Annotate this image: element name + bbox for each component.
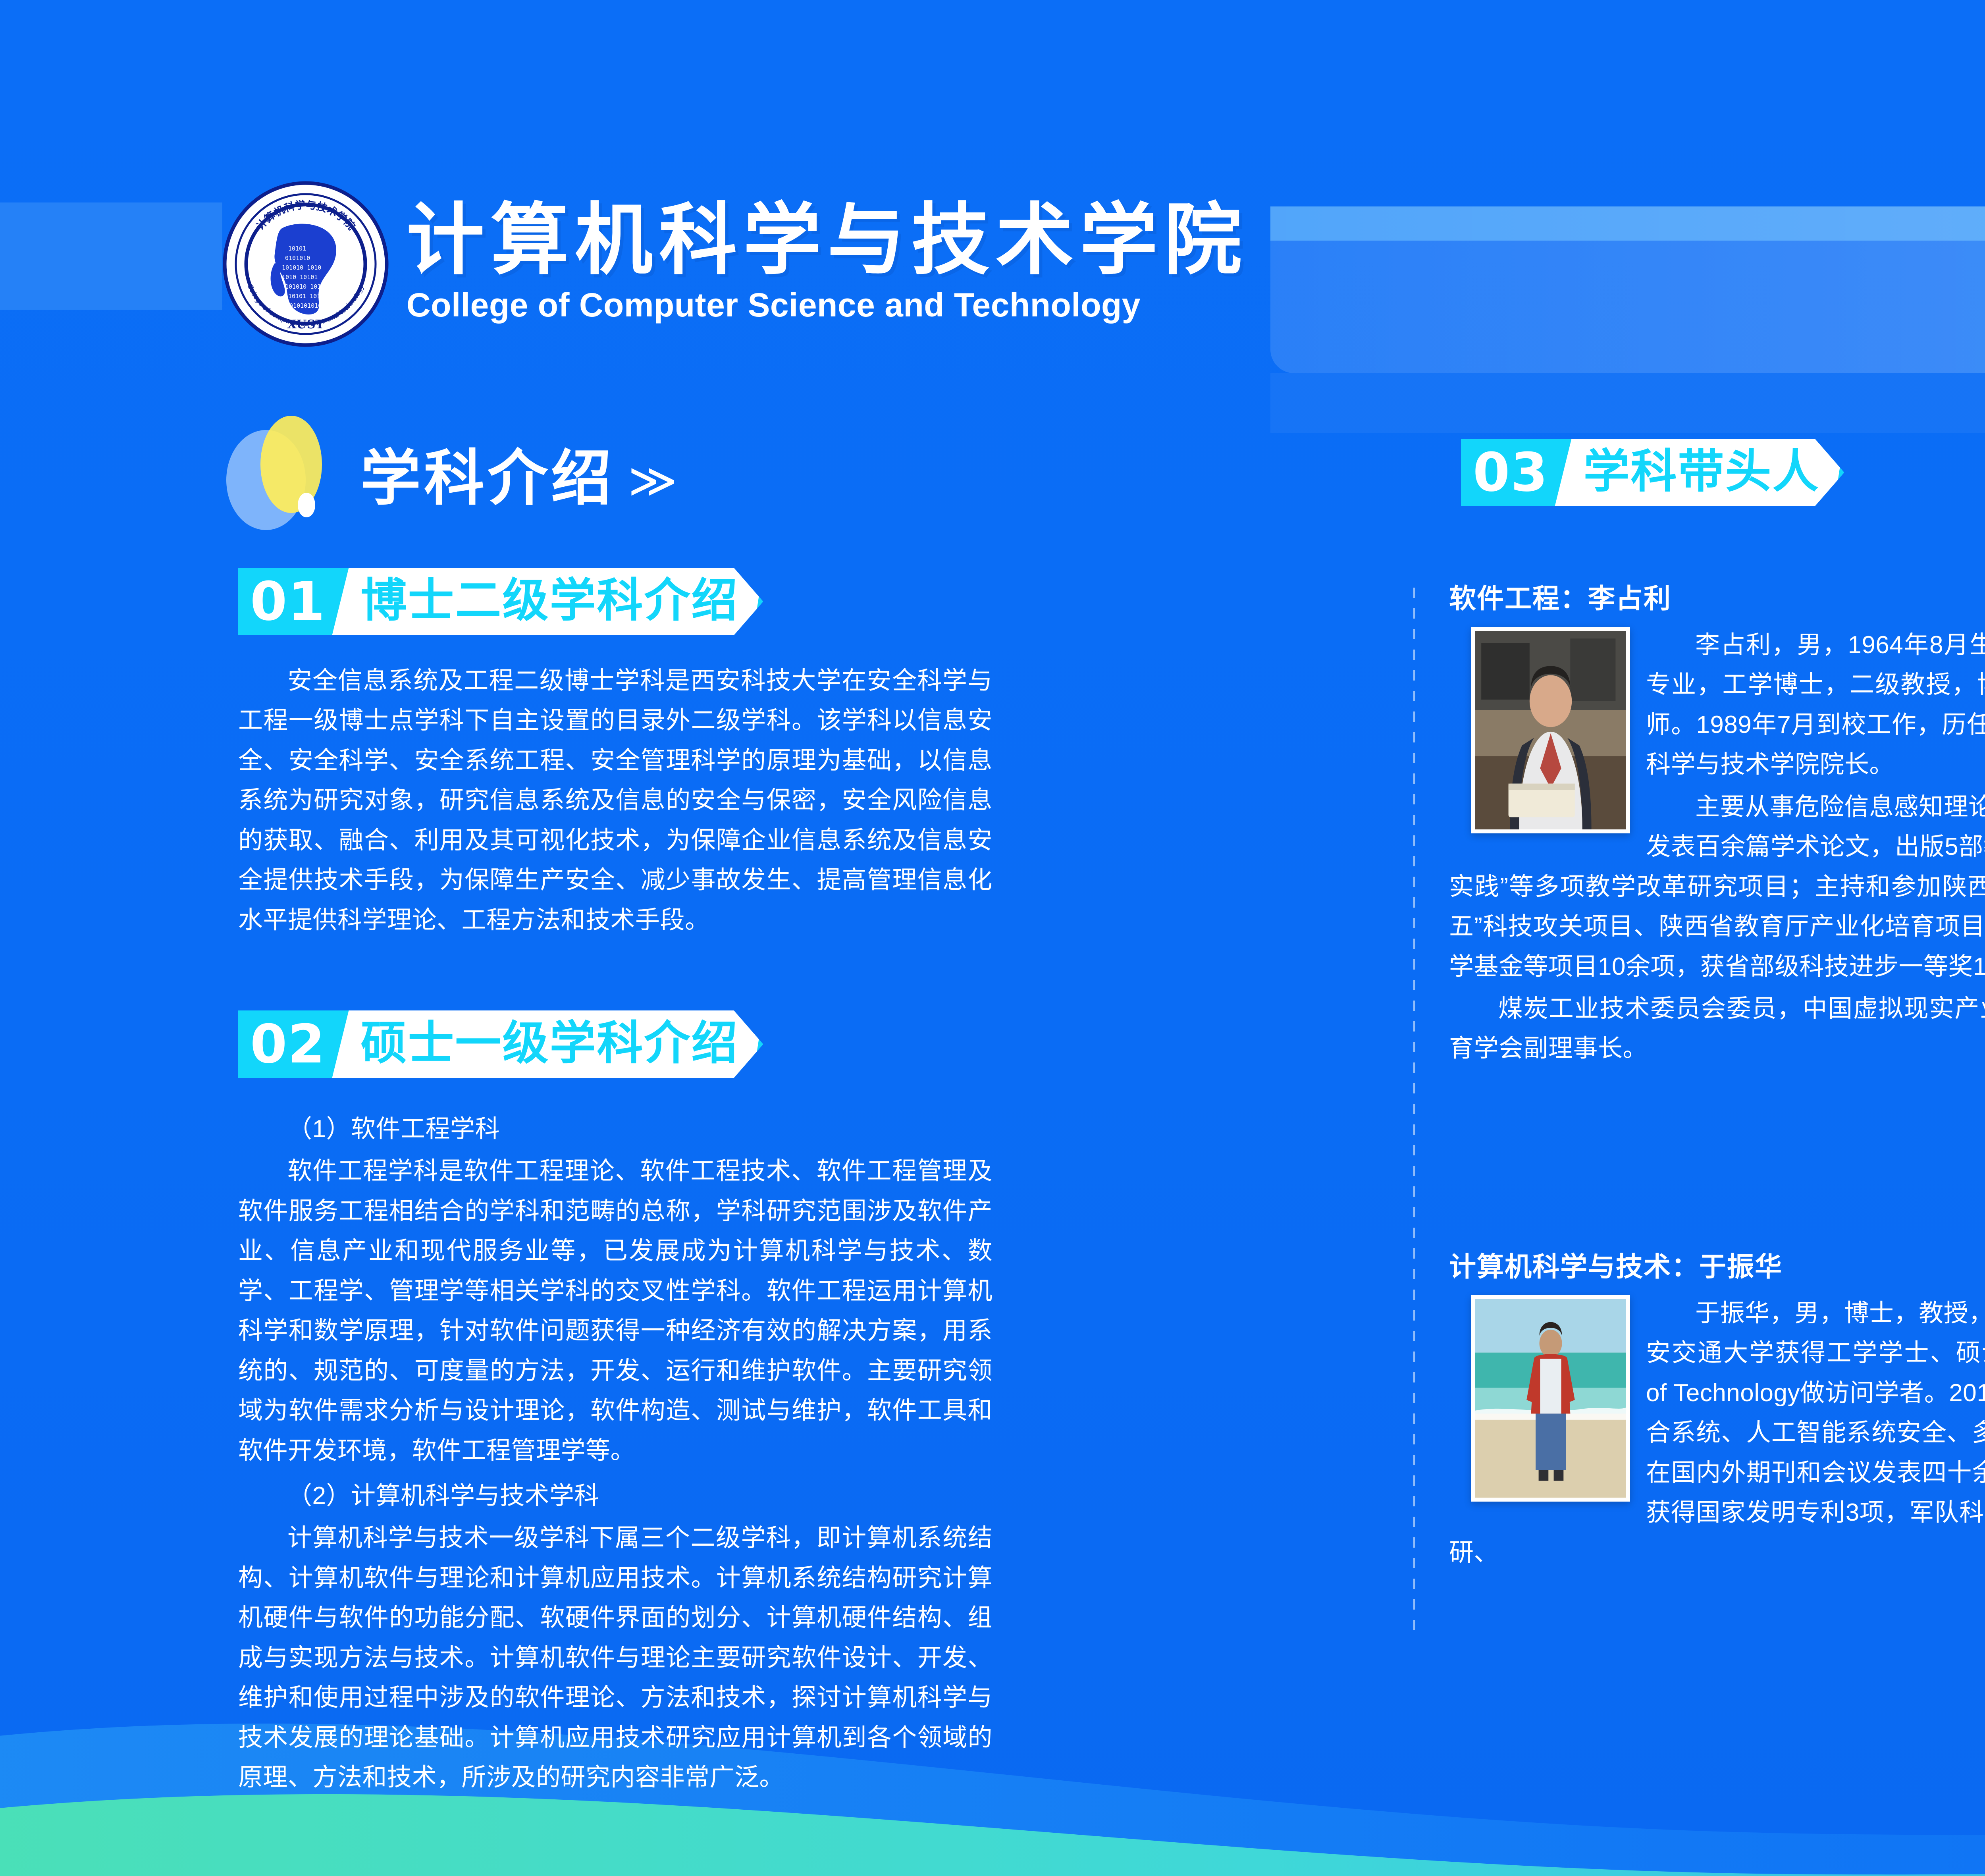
- poster-canvas: 10101 0101010 101010 1010 1010 10101 101…: [0, 0, 1985, 1876]
- svg-text:0101010: 0101010: [285, 255, 310, 262]
- paragraph: 计算机科学与技术一级学科下属三个二级学科，即计算机系统结构、计算机软件与理论和计…: [238, 1518, 992, 1797]
- subsection-heading: （2）计算机科学与技术学科: [238, 1476, 992, 1516]
- college-title-chinese: 计算机科学与技术学院: [407, 201, 1248, 280]
- white-dot-icon: [298, 493, 315, 517]
- section-badge-plate: 学科带头人: [1555, 439, 1844, 506]
- leader-portrait-photo: [1471, 1295, 1630, 1502]
- leader-profile-2: 计算机科学与技术：于振华: [1449, 1245, 1985, 1575]
- subsection-heading: （1）软件工程学科: [238, 1109, 992, 1149]
- svg-text:101010 101010: 101010 101010: [285, 283, 331, 290]
- university-crest-logo: 10101 0101010 101010 1010 1010 10101 101…: [222, 181, 389, 347]
- college-title-english: College of Computer Science and Technolo…: [407, 286, 1248, 324]
- leader-name-heading: 计算机科学与技术：于振华: [1449, 1245, 1985, 1284]
- svg-text:10101: 10101: [288, 245, 306, 252]
- double-chevron-right-icon: ≫: [628, 457, 677, 504]
- section-01-body: 安全信息系统及工程二级博士学科是西安科技大学在安全科学与工程一级博士点学科下自主…: [238, 661, 992, 943]
- section-number: 02: [250, 1010, 328, 1078]
- section-badge-plate: 硕士一级学科介绍: [332, 1010, 763, 1078]
- title-dot-decoration: [226, 419, 357, 538]
- section-badge-plate: 博士二级学科介绍: [332, 568, 763, 635]
- paragraph: 煤炭工业技术委员会委员，中国虚拟现实产业联盟常务理事陕西省计算机学会常务理事，陕…: [1449, 989, 1985, 1069]
- leader-profile-1: 软件工程：李占利: [1449, 576, 1985, 1071]
- page-title-label: 学科介绍: [360, 448, 615, 509]
- leader-bio: 李占利，男，1964年8月生，陕西省周至人。1997年12月毕业于西安交通大学机…: [1449, 625, 1985, 1071]
- page-title: 学科介绍 ≫: [226, 413, 677, 544]
- section-title: 博士二级学科介绍: [360, 577, 738, 623]
- section-title: 学科带头人: [1583, 448, 1819, 494]
- header-ribbon-lower: [1270, 373, 1985, 433]
- masthead: 10101 0101010 101010 1010 1010 10101 101…: [222, 181, 1248, 347]
- leader-portrait-photo: [1471, 627, 1630, 833]
- column-divider: [1413, 588, 1415, 1636]
- leader-name-heading: 软件工程：李占利: [1449, 576, 1985, 616]
- svg-text:101010 1010: 101010 1010: [282, 264, 321, 271]
- paragraph: 安全信息系统及工程二级博士学科是西安科技大学在安全科学与工程一级博士点学科下自主…: [238, 661, 992, 940]
- section-badge-01: 01 博士二级学科介绍: [238, 568, 763, 635]
- left-accent-band: [0, 202, 222, 310]
- section-badge-03: 03 学科带头人: [1461, 439, 1844, 506]
- leader-bio: 于振华，男，博士，教授，计算机科学与技术学科带头人。分别在西安电子科技大学和西安…: [1449, 1294, 1985, 1575]
- section-badge-02: 02 硕士一级学科介绍: [238, 1010, 763, 1078]
- section-number: 03: [1473, 439, 1551, 506]
- section-number: 01: [250, 568, 328, 635]
- section-title: 硕士一级学科介绍: [360, 1020, 738, 1066]
- header-ribbon: [1270, 206, 1985, 373]
- section-02-body: （1）软件工程学科 软件工程学科是软件工程理论、软件工程技术、软件工程管理及软件…: [238, 1104, 992, 1800]
- svg-text:1010 10101: 1010 10101: [282, 274, 318, 281]
- paragraph: 软件工程学科是软件工程理论、软件工程技术、软件工程管理及软件服务工程相结合的学科…: [238, 1151, 992, 1471]
- svg-text:10101 101010: 10101 101010: [288, 293, 331, 300]
- svg-text:101010101010: 101010101010: [286, 302, 329, 309]
